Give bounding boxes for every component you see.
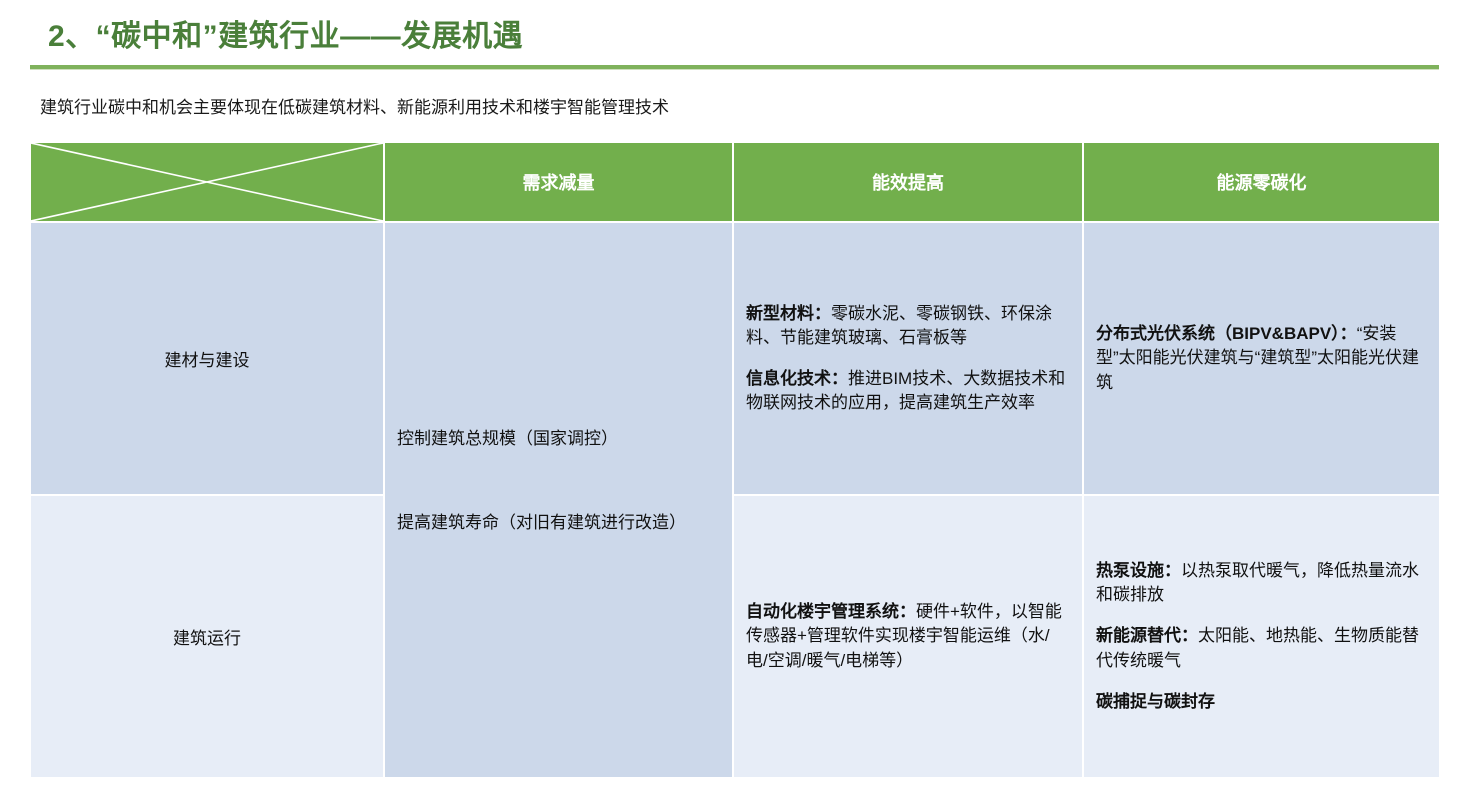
page-title: 2、“碳中和”建筑行业——发展机遇: [48, 11, 523, 55]
efficiency-construction-text: 新型材料：零碳水泥、零碳钢铁、环保涂料、节能建筑玻璃、石膏板等 信息化技术：推进…: [734, 223, 1082, 494]
zerocarbon-operation-text: 热泵设施：以热泵取代暖气，降低热量流水和碳排放 新能源替代：太阳能、地热能、生物…: [1084, 496, 1439, 777]
efficiency-lead-1: 新型材料：: [746, 304, 831, 323]
zerocarbon-paragraph: 热泵设施：以热泵取代暖气，降低热量流水和碳排放: [1096, 559, 1427, 607]
table-cell-zerocarbon-operation: 热泵设施：以热泵取代暖气，降低热量流水和碳排放 新能源替代：太阳能、地热能、生物…: [1084, 496, 1439, 777]
zerocarbon-construction-text: 分布式光伏系统（BIPV&BAPV）：“安装型”太阳能光伏建筑与“建筑型”太阳能…: [1084, 223, 1439, 494]
zerocarbon-lead-2: 热泵设施：: [1096, 561, 1181, 580]
efficiency-lead-3: 自动化楼宇管理系统：: [746, 602, 916, 621]
table-header-demand: 需求减量: [385, 143, 732, 221]
table-header-efficiency: 能效提高: [734, 143, 1082, 221]
efficiency-operation-text: 自动化楼宇管理系统：硬件+软件，以智能传感器+管理软件实现楼宇智能运维（水/电/…: [734, 496, 1082, 777]
table-cell-zerocarbon-construction: 分布式光伏系统（BIPV&BAPV）：“安装型”太阳能光伏建筑与“建筑型”太阳能…: [1084, 223, 1439, 494]
slide-root: 2、“碳中和”建筑行业——发展机遇 建筑行业碳中和机会主要体现在低碳建筑材料、新…: [0, 0, 1469, 807]
table-header-corner-cell: [31, 143, 383, 221]
efficiency-lead-2: 信息化技术：: [746, 369, 848, 388]
table-row-label-operation: 建筑运行: [31, 496, 383, 777]
table-cell-efficiency-construction: 新型材料：零碳水泥、零碳钢铁、环保涂料、节能建筑玻璃、石膏板等 信息化技术：推进…: [734, 223, 1082, 494]
table-row-label-construction: 建材与建设: [31, 223, 383, 494]
zerocarbon-lead-4: 碳捕捉与碳封存: [1096, 692, 1215, 711]
zerocarbon-paragraph: 分布式光伏系统（BIPV&BAPV）：“安装型”太阳能光伏建筑与“建筑型”太阳能…: [1096, 322, 1427, 394]
table-header-zerocarbon: 能源零碳化: [1084, 143, 1439, 221]
demand-text-construction: 控制建筑总规模（国家调控）: [397, 427, 715, 451]
table-cell-efficiency-operation: 自动化楼宇管理系统：硬件+软件，以智能传感器+管理软件实现楼宇智能运维（水/电/…: [734, 496, 1082, 777]
efficiency-paragraph: 信息化技术：推进BIM技术、大数据技术和物联网技术的应用，提高建筑生产效率: [746, 367, 1070, 415]
zerocarbon-lead-1: 分布式光伏系统（BIPV&BAPV）：: [1096, 324, 1357, 343]
demand-text-operation: 提高建筑寿命（对旧有建筑进行改造）: [397, 511, 715, 535]
lead-paragraph: 建筑行业碳中和机会主要体现在低碳建筑材料、新能源利用技术和楼宇智能管理技术: [40, 93, 669, 118]
title-divider-rule-thin: [30, 69, 1439, 70]
opportunity-table: 需求减量 能效提高 能源零碳化 建材与建设 建筑运行 控制建筑总规模（国家调控）…: [31, 143, 1439, 777]
efficiency-paragraph: 自动化楼宇管理系统：硬件+软件，以智能传感器+管理软件实现楼宇智能运维（水/电/…: [746, 600, 1070, 672]
zerocarbon-paragraph: 碳捕捉与碳封存: [1096, 690, 1427, 714]
table-cell-demand-merged: 控制建筑总规模（国家调控） 提高建筑寿命（对旧有建筑进行改造）: [385, 223, 732, 777]
zerocarbon-lead-3: 新能源替代：: [1096, 626, 1198, 645]
efficiency-paragraph: 新型材料：零碳水泥、零碳钢铁、环保涂料、节能建筑玻璃、石膏板等: [746, 302, 1070, 350]
diagonal-cross-icon: [31, 143, 383, 221]
zerocarbon-paragraph: 新能源替代：太阳能、地热能、生物质能替代传统暖气: [1096, 624, 1427, 672]
